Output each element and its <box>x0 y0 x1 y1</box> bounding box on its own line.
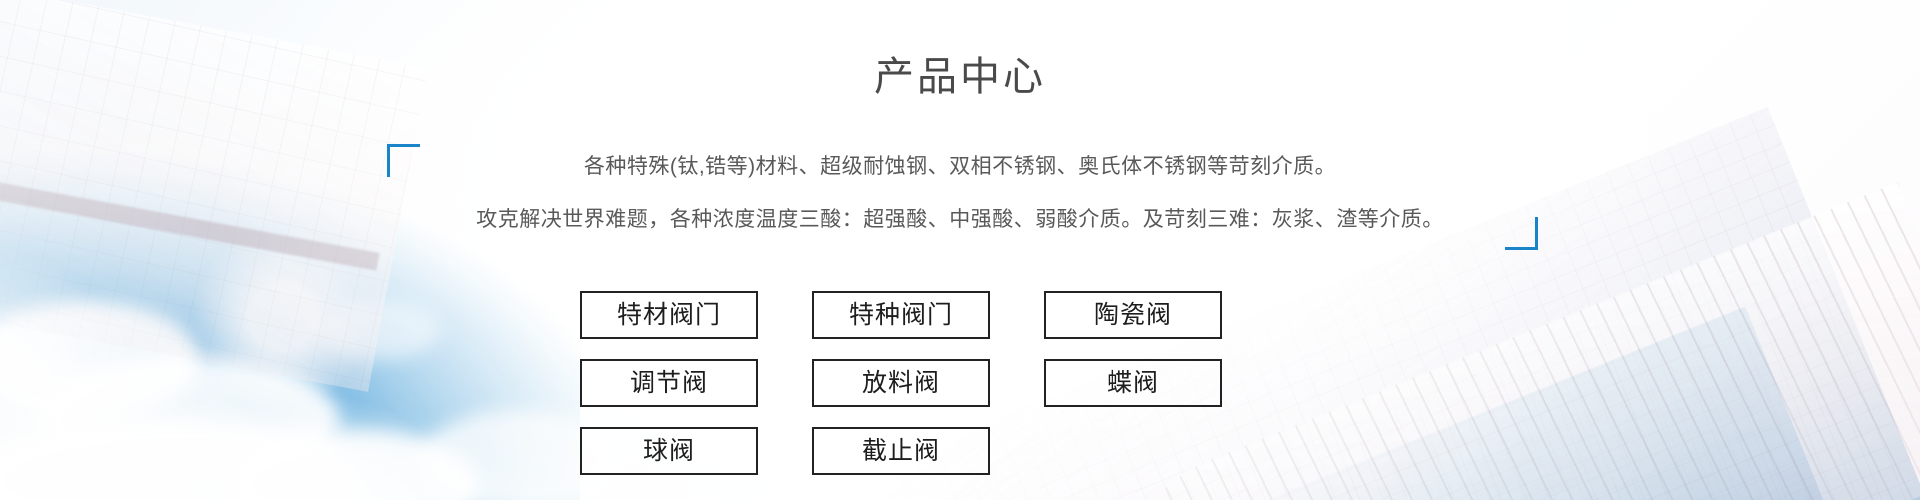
product-center-banner: 产品中心 各种特殊(钛,锆等)材料、超级耐蚀钢、双相不锈钢、奥氏体不锈钢等苛刻介… <box>0 0 1920 500</box>
category-tag-jie-zhi-fa[interactable]: 截止阀 <box>812 427 990 475</box>
category-tag-tao-ci-fa[interactable]: 陶瓷阀 <box>1044 291 1222 339</box>
category-tag-tiao-jie-fa[interactable]: 调节阀 <box>580 359 758 407</box>
category-tag-list: 特材阀门 特种阀门 陶瓷阀 调节阀 放料阀 蝶阀 球阀 截止阀 <box>580 291 1340 475</box>
category-tag-te-zhong-fa-men[interactable]: 特种阀门 <box>812 291 990 339</box>
category-tag-te-cai-fa-men[interactable]: 特材阀门 <box>580 291 758 339</box>
description-line-2: 攻克解决世界难题，各种浓度温度三酸：超强酸、中强酸、弱酸介质。及苛刻三难：灰浆、… <box>0 203 1920 237</box>
category-tag-die-fa[interactable]: 蝶阀 <box>1044 359 1222 407</box>
banner-content: 产品中心 各种特殊(钛,锆等)材料、超级耐蚀钢、双相不锈钢、奥氏体不锈钢等苛刻介… <box>0 0 1920 500</box>
category-tag-qiu-fa[interactable]: 球阀 <box>580 427 758 475</box>
page-title: 产品中心 <box>0 50 1920 104</box>
category-tag-fang-liao-fa[interactable]: 放料阀 <box>812 359 990 407</box>
description-line-1: 各种特殊(钛,锆等)材料、超级耐蚀钢、双相不锈钢、奥氏体不锈钢等苛刻介质。 <box>0 150 1920 184</box>
